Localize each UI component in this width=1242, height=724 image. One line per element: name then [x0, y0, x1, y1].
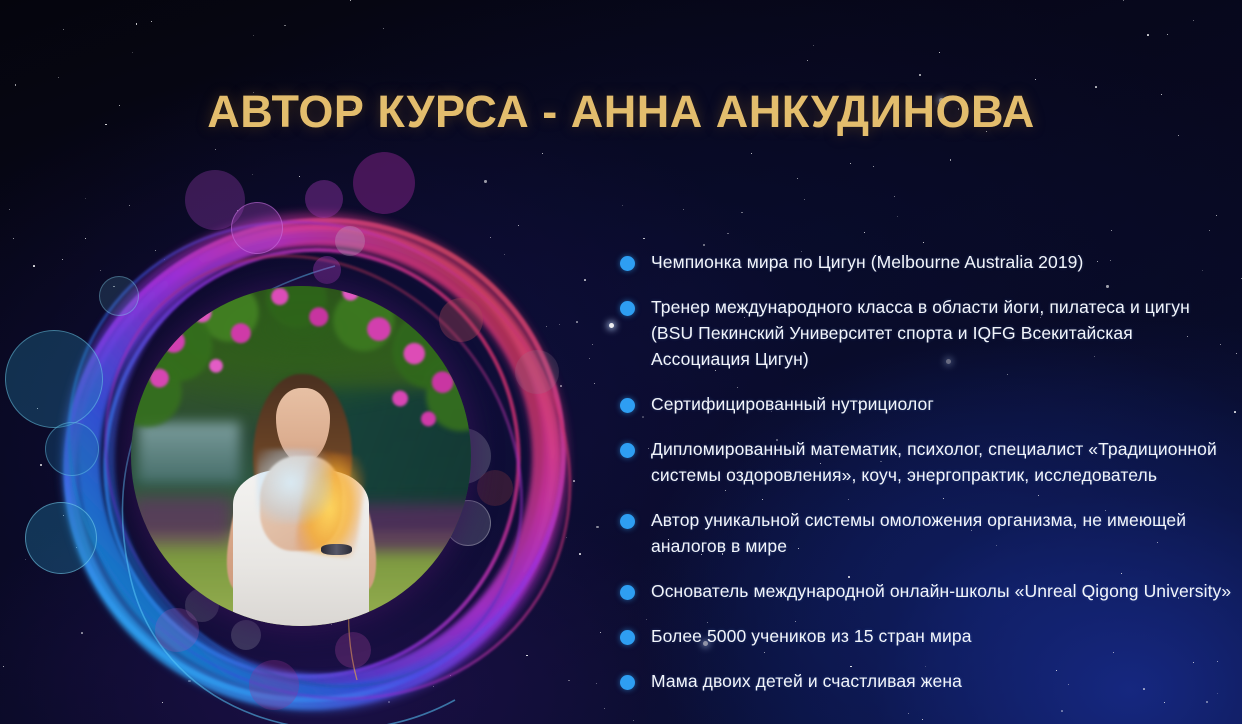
bullet-dot-icon	[620, 585, 635, 600]
list-item-line: Мама двоих детей и счастливая жена	[651, 668, 962, 694]
bullet-dot-icon	[620, 630, 635, 645]
bullet-dot-icon	[620, 398, 635, 413]
list-item-label: Сертифицированный нутрициолог	[651, 391, 934, 417]
list-item: Мама двоих детей и счастливая жена	[620, 668, 1232, 694]
list-item-line: Тренер международного класса в области й…	[651, 294, 1190, 320]
list-item: Тренер международного класса в области й…	[620, 294, 1232, 372]
list-item-label: Тренер международного класса в области й…	[651, 294, 1190, 372]
bullet-dot-icon	[620, 675, 635, 690]
list-item-line: Автор уникальной системы омоложения орга…	[651, 507, 1186, 533]
list-item: Дипломированный математик, психолог, спе…	[620, 436, 1232, 488]
list-item-line: Основатель международной онлайн-школы «U…	[651, 578, 1231, 604]
author-portrait-photo	[131, 286, 471, 626]
bullet-dot-icon	[620, 443, 635, 458]
credentials-list: Чемпионка мира по Цигун (Melbourne Austr…	[620, 249, 1232, 713]
list-item-line: Чемпионка мира по Цигун (Melbourne Austr…	[651, 249, 1083, 275]
list-item-label: Автор уникальной системы омоложения орга…	[651, 507, 1186, 559]
bullet-dot-icon	[620, 256, 635, 271]
bullet-dot-icon	[620, 301, 635, 316]
list-item: Автор уникальной системы омоложения орга…	[620, 507, 1232, 559]
portrait-swirl-frame	[35, 180, 595, 724]
list-item-label: Мама двоих детей и счастливая жена	[651, 668, 962, 694]
bullet-dot-icon	[620, 514, 635, 529]
list-item: Чемпионка мира по Цигун (Melbourne Austr…	[620, 249, 1232, 275]
list-item-label: Более 5000 учеников из 15 стран мира	[651, 623, 972, 649]
list-item-line: аналогов в мире	[651, 533, 1186, 559]
slide-root: АВТОР КУРСА - АННА АНКУДИНОВА Чемпионка …	[0, 0, 1242, 724]
list-item: Более 5000 учеников из 15 стран мира	[620, 623, 1232, 649]
list-item-label: Основатель международной онлайн-школы «U…	[651, 578, 1231, 604]
list-item-line: системы оздоровления», коуч, энергопракт…	[651, 462, 1217, 488]
list-item-line: Более 5000 учеников из 15 стран мира	[651, 623, 972, 649]
list-item: Сертифицированный нутрициолог	[620, 391, 1232, 417]
list-item-label: Чемпионка мира по Цигун (Melbourne Austr…	[651, 249, 1083, 275]
list-item-line: (BSU Пекинский Университет спорта и IQFG…	[651, 320, 1190, 346]
list-item-line: Сертифицированный нутрициолог	[651, 391, 934, 417]
page-title: АВТОР КУРСА - АННА АНКУДИНОВА	[0, 86, 1242, 138]
list-item: Основатель международной онлайн-школы «U…	[620, 578, 1232, 604]
list-item-line: Дипломированный математик, психолог, спе…	[651, 436, 1217, 462]
list-item-line: Ассоциация Цигун)	[651, 346, 1190, 372]
list-item-label: Дипломированный математик, психолог, спе…	[651, 436, 1217, 488]
